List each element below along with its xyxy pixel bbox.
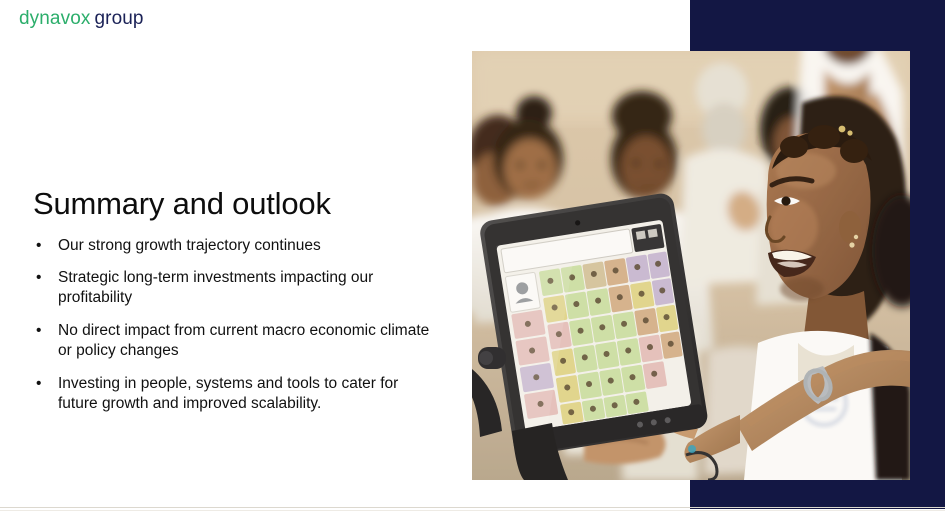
list-item-text: Strategic long-term investments impactin… xyxy=(58,269,373,306)
list-item: • Strategic long-term investments impact… xyxy=(33,268,433,308)
logo-brand-name: dynavox xyxy=(19,8,90,29)
list-item: • No direct impact from current macro ec… xyxy=(33,321,433,361)
slide-text-column: Summary and outlook • Our strong growth … xyxy=(33,186,433,413)
list-item-text: No direct impact from current macro econ… xyxy=(58,322,429,359)
slide-bottom-divider xyxy=(0,507,945,508)
bullet-marker-icon: • xyxy=(36,321,41,341)
bullet-marker-icon: • xyxy=(36,374,41,394)
summary-bullet-list: • Our strong growth trajectory continues… xyxy=(33,236,433,414)
list-item: • Our strong growth trajectory continues xyxy=(33,236,433,256)
list-item: • Investing in people, systems and tools… xyxy=(33,374,433,414)
bullet-marker-icon: • xyxy=(36,236,41,256)
dynavox-group-logo: dynavoxgroup xyxy=(19,9,144,28)
page-title: Summary and outlook xyxy=(33,186,433,222)
list-item-text: Investing in people, systems and tools t… xyxy=(58,375,398,412)
presentation-slide: dynavoxgroup xyxy=(0,0,945,515)
bullet-marker-icon: • xyxy=(36,268,41,288)
list-item-text: Our strong growth trajectory continues xyxy=(58,237,321,254)
slide-bottom-divider-secondary xyxy=(0,510,945,511)
slide-photo xyxy=(472,51,910,480)
logo-group-word: group xyxy=(94,8,143,29)
